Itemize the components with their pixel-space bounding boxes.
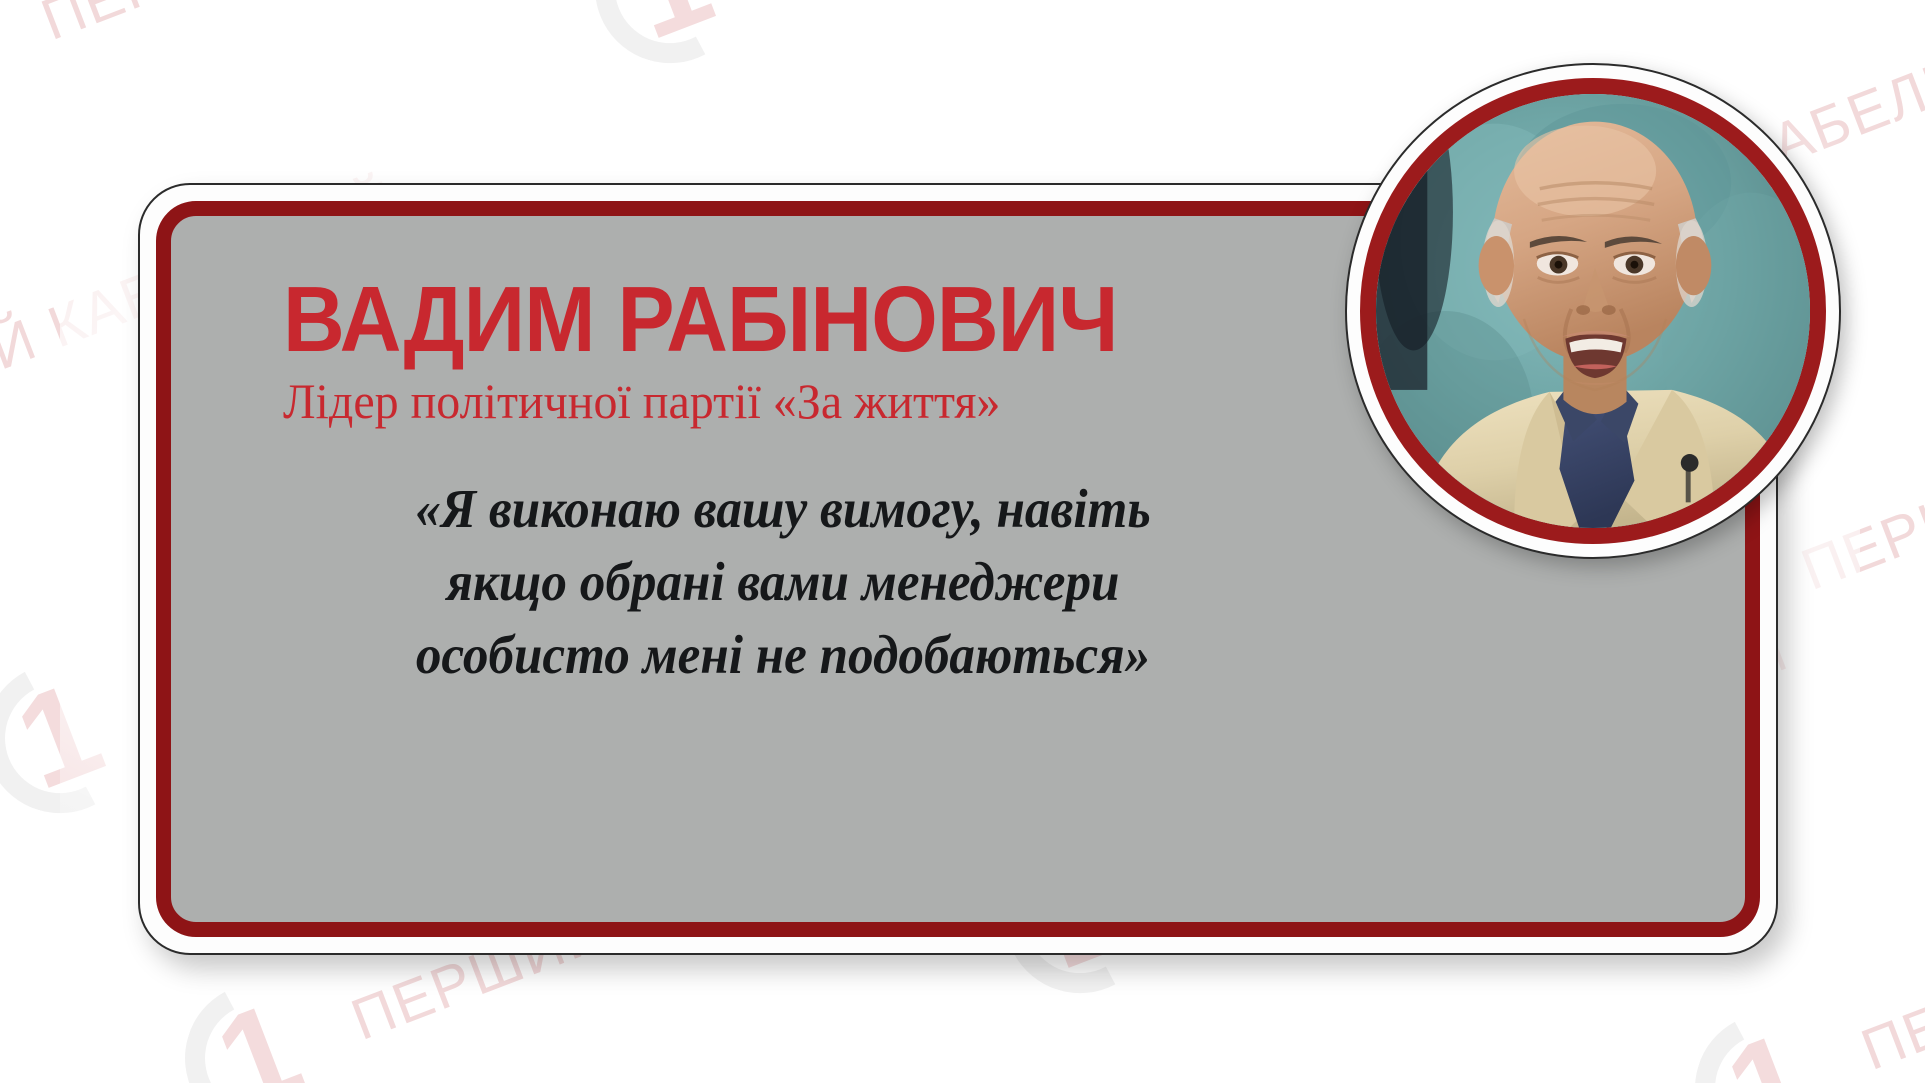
watermark-logo-icon: 1 [1673,991,1867,1083]
watermark-logo-icon: 1 [573,0,767,85]
watermark-digit: 1 [1,661,117,811]
watermark-logo-icon: 1 [0,0,47,155]
quote-text: «Я виконаю вашу вимогу, навіть якщо обра… [318,472,1248,691]
watermark-logo-icon: 1 [0,641,157,835]
watermark-ring-icon [0,0,44,152]
watermark-ring-icon [576,0,763,82]
watermark-digit: 1 [0,0,7,130]
quote-line: якщо обрані вами менеджери [318,545,1248,618]
watermark-text: ПЕРШИЙ КАБЕЛЬНИЙ [32,0,667,53]
watermark-text: ПЕРШИЙ КАБЕЛЬНИЙ [1852,786,1925,1083]
avatar [1345,63,1841,559]
watermark-ring-icon [166,964,353,1083]
watermark-digit: 1 [611,0,727,60]
watermark-digit: 1 [1711,1011,1827,1083]
portrait-illustration-icon [1376,94,1810,528]
watermark-logo-icon: 1 [163,961,357,1083]
quote-line: «Я виконаю вашу вимогу, навіть [318,472,1248,545]
watermark-digit: 1 [201,981,317,1083]
watermark-unit: 1 ПЕРШИЙ КАБЕЛЬНИЙ [573,0,1402,85]
watermark-ring-icon [1676,994,1863,1083]
quote-line: особисто мені не подобаються» [318,618,1248,691]
watermark-ring-icon [0,644,154,831]
watermark-unit: 1 ПЕРШИЙ КАБЕЛЬНИЙ [0,0,682,155]
avatar-photo [1376,94,1810,528]
